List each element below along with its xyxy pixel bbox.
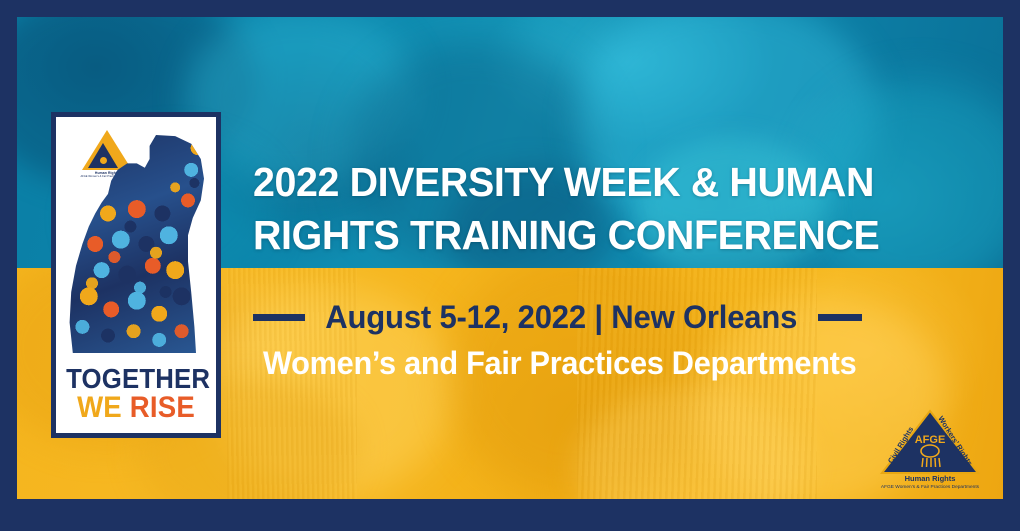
date-location-text: August 5-12, 2022 | New Orleans [325, 298, 797, 336]
subtitle: Women’s and Fair Practices Departments [263, 344, 964, 382]
banner-stage: 2022 DIVERSITY WEEK & HUMAN RIGHTS TRAIN… [17, 17, 1003, 499]
page-title: 2022 DIVERSITY WEEK & HUMAN RIGHTS TRAIN… [253, 156, 954, 262]
crowd-mosaic-layer [60, 135, 212, 353]
afge-logo-bottom-text: Human Rights [905, 474, 956, 483]
afge-logo-caption: AFGE Women’s & Fair Practices Department… [881, 484, 980, 489]
divider-rule-right [818, 314, 862, 321]
conference-banner: 2022 DIVERSITY WEEK & HUMAN RIGHTS TRAIN… [0, 0, 1020, 531]
poster-slogan: TOGETHER WE RISE [60, 365, 212, 423]
poster-artwork: Human Rights AFGE Women’s & Fair Practic… [60, 121, 212, 429]
date-location-row: August 5-12, 2022 | New Orleans [253, 298, 983, 336]
poster-word-we: WE [77, 391, 122, 424]
raised-fist-illustration [60, 135, 212, 353]
poster-word-together: TOGETHER [66, 365, 206, 393]
divider-rule-left [253, 314, 305, 321]
afge-logo: AFGE Civil Rights Workers’ Rights Human … [870, 403, 990, 489]
together-we-rise-poster: Human Rights AFGE Women’s & Fair Practic… [51, 112, 221, 438]
poster-word-we-rise: WE RISE [66, 393, 206, 423]
poster-word-rise: RISE [130, 391, 195, 424]
